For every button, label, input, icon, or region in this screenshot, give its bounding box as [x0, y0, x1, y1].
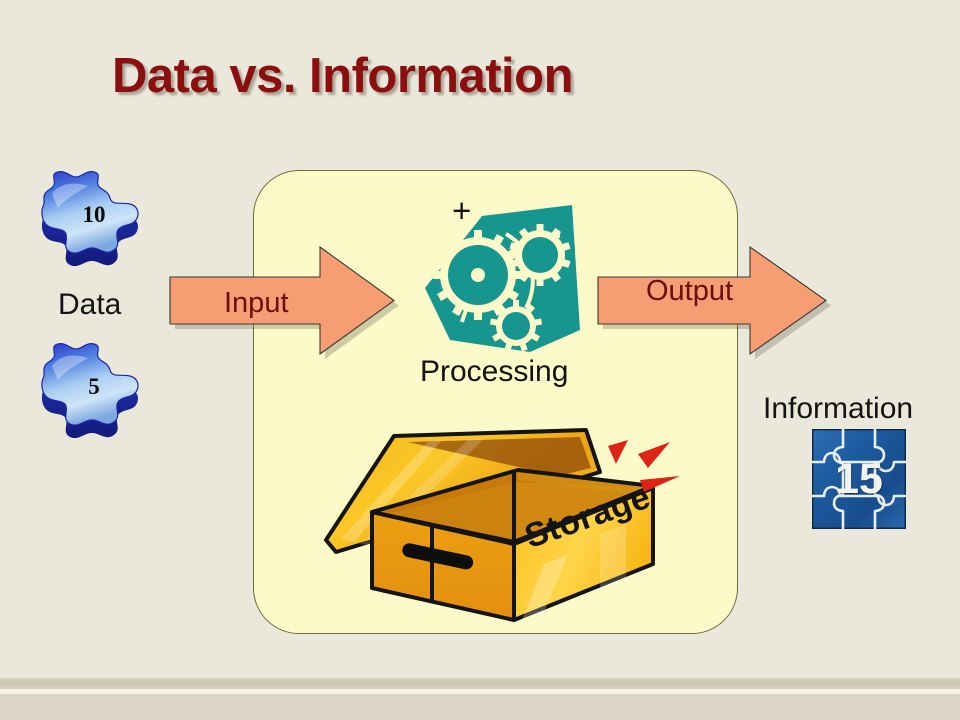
- completed-puzzle-value: 15: [812, 455, 906, 504]
- puzzle-piece-10: 10: [26, 168, 158, 266]
- data-label: Data: [58, 288, 121, 322]
- page-title: Data vs. Information: [112, 48, 573, 104]
- puzzle-piece-10-value: 10: [28, 202, 160, 228]
- input-arrow: Input: [166, 243, 398, 358]
- puzzle-piece-5-value: 5: [28, 374, 160, 400]
- processing-label: Processing: [420, 355, 568, 389]
- footer-band: [0, 694, 960, 720]
- information-label: Information: [763, 392, 913, 426]
- input-arrow-label: Input: [224, 287, 289, 320]
- gears-icon: [420, 200, 585, 355]
- open-box-icon: [308, 424, 688, 629]
- slide-canvas: Data vs. Information: [0, 0, 960, 720]
- footer-band-accent: [0, 678, 960, 689]
- output-arrow: Output: [596, 243, 834, 358]
- puzzle-piece-5: 5: [26, 340, 158, 438]
- output-arrow-label: Output: [646, 275, 733, 308]
